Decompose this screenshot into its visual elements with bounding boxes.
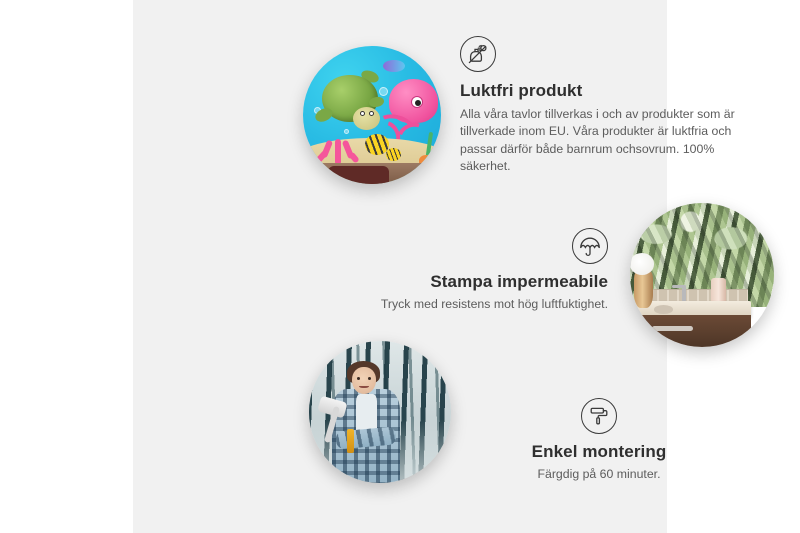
octopus-eye bbox=[411, 96, 423, 108]
cabinet-handle bbox=[760, 317, 765, 343]
no-fragrance-spray-icon bbox=[460, 36, 496, 72]
feature-mounting: Enkel montering Färgdig på 60 minuter. bbox=[464, 398, 734, 483]
feature-waterproof: Stampa impermeabile Tryck med resistens … bbox=[340, 228, 608, 313]
content-panel: Luktfri produkt Alla våra tavlor tillver… bbox=[133, 0, 667, 533]
eye bbox=[357, 377, 360, 380]
feature-description: Tryck med resistens mot hög luftfuktighe… bbox=[340, 296, 608, 313]
bathroom-illustration bbox=[630, 203, 774, 347]
photo-bathroom-interior[interactable] bbox=[630, 203, 774, 347]
eye bbox=[368, 377, 371, 380]
umbrella-icon bbox=[572, 228, 608, 264]
faucet-icon bbox=[682, 285, 686, 302]
feature-description: Färgdig på 60 minuter. bbox=[464, 466, 734, 483]
turtle-eye bbox=[360, 111, 365, 116]
soap-dish bbox=[654, 305, 673, 314]
feature-title: Enkel montering bbox=[464, 442, 734, 462]
yellow-fish-icon bbox=[386, 148, 401, 160]
photo-painter-woman[interactable] bbox=[309, 341, 451, 483]
turtle-eye bbox=[369, 111, 374, 116]
feature-odourless: Luktfri produkt Alla våra tavlor tillver… bbox=[460, 36, 760, 176]
smile bbox=[359, 384, 369, 388]
coral-icon bbox=[318, 127, 359, 164]
feature-title: Luktfri produkt bbox=[460, 81, 760, 101]
vase bbox=[634, 271, 653, 308]
underwater-illustration bbox=[303, 46, 441, 184]
feature-title: Stampa impermeabile bbox=[340, 272, 608, 292]
photo-underwater-scene[interactable] bbox=[303, 46, 441, 184]
feature-description: Alla våra tavlor tillverkas i och av pro… bbox=[460, 106, 760, 176]
face bbox=[352, 367, 376, 394]
inner-shirt bbox=[356, 394, 377, 431]
wooden-vanity bbox=[639, 315, 751, 347]
paint-roller-icon bbox=[581, 398, 617, 434]
yellow-fish-icon bbox=[365, 134, 388, 155]
sunken-object bbox=[328, 166, 389, 184]
hand-tool bbox=[347, 429, 354, 453]
screenshot-canvas: Luktfri produkt Alla våra tavlor tillver… bbox=[0, 0, 800, 533]
painter-illustration bbox=[309, 341, 451, 483]
